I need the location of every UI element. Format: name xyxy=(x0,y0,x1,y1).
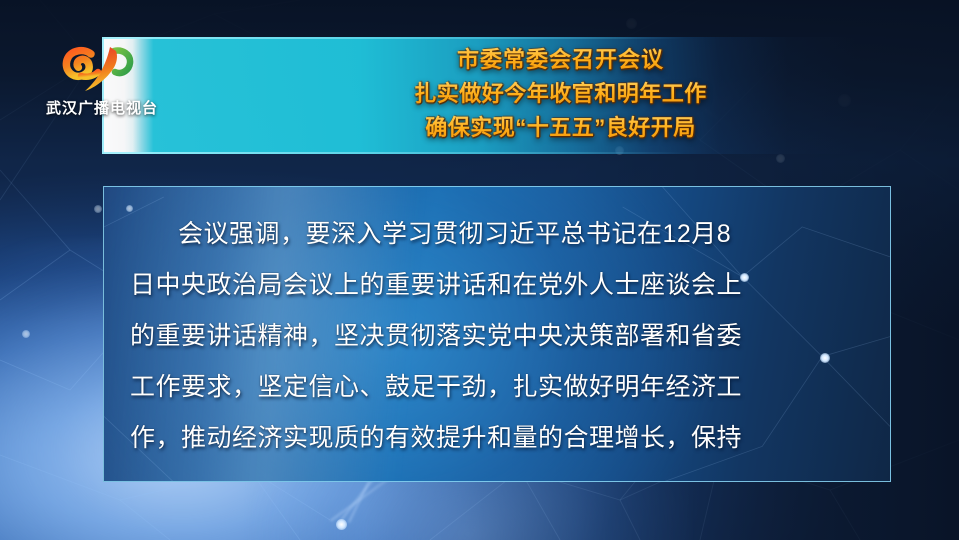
headline-banner: 市委常委会召开会议 扎实做好今年收官和明年工作 确保实现“十五五”良好开局 xyxy=(102,37,959,154)
subtitle-line-5: 作，推动经济实现质的有效提升和量的合理增长，保持 xyxy=(130,413,864,464)
station-name-label: 武汉广播电视台 xyxy=(32,97,172,118)
station-logo: 武汉广播电视台 xyxy=(32,45,172,121)
headline-banner-bottom-edge xyxy=(102,152,685,154)
headline-text-block: 市委常委会召开会议 扎实做好今年收官和明年工作 确保实现“十五五”良好开局 xyxy=(102,43,959,145)
wuhan-tv-logo-icon xyxy=(60,45,148,97)
subtitle-panel: 会议强调，要深入学习贯彻习近平总书记在12月8 日中央政治局会议上的重要讲话和在… xyxy=(103,186,891,482)
subtitle-line-3: 的重要讲话精神，坚决贯彻落实党中央决策部署和省委 xyxy=(130,311,864,362)
headline-line-2: 扎实做好今年收官和明年工作 xyxy=(162,77,959,111)
subtitle-line-1: 会议强调，要深入学习贯彻习近平总书记在12月8 xyxy=(130,209,864,260)
headline-line-1: 市委常委会召开会议 xyxy=(162,43,959,77)
headline-line-3: 确保实现“十五五”良好开局 xyxy=(162,111,959,145)
subtitle-line-4: 工作要求，坚定信心、鼓足干劲，扎实做好明年经济工 xyxy=(130,362,864,413)
headline-banner-top-edge xyxy=(102,37,685,39)
subtitle-text-block: 会议强调，要深入学习贯彻习近平总书记在12月8 日中央政治局会议上的重要讲话和在… xyxy=(104,187,890,464)
broadcast-lower-third-screen: 市委常委会召开会议 扎实做好今年收官和明年工作 确保实现“十五五”良好开局 xyxy=(0,0,959,540)
subtitle-line-2: 日中央政治局会议上的重要讲话和在党外人士座谈会上 xyxy=(130,260,864,311)
